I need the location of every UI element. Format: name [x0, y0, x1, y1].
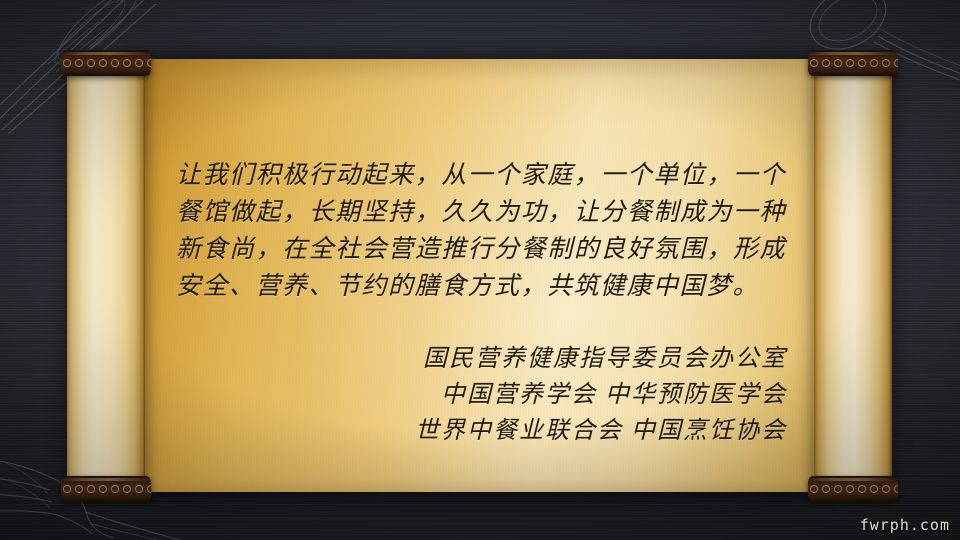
cap-ornament-pattern — [61, 57, 151, 69]
signature-line: 国民营养健康指导委员会办公室 — [227, 341, 787, 377]
scroll-roller-right — [814, 50, 892, 502]
scroll-body-text: 让我们积极行动起来，从一个家庭，一个单位，一个餐馆做起，长期坚持，久久为功，让分… — [176, 157, 786, 305]
cap-ornament-pattern — [808, 483, 898, 495]
site-watermark: fwrph.com — [860, 516, 950, 534]
cap-highlight — [61, 52, 151, 55]
scroll-roller-left — [67, 50, 145, 502]
cap-highlight — [808, 478, 898, 481]
cap-highlight — [61, 478, 151, 481]
scroll-signature-block: 国民营养健康指导委员会办公室 中国营养学会 中华预防医学会 世界中餐业联合会 中… — [227, 341, 787, 449]
roller-cap-top — [808, 50, 898, 76]
cap-ornament-pattern — [808, 57, 898, 69]
roller-cap-bottom — [808, 476, 898, 502]
roller-cap-top — [61, 50, 151, 76]
roller-body — [67, 68, 145, 484]
roller-cap-bottom — [61, 476, 151, 502]
poster-canvas: 让我们积极行动起来，从一个家庭，一个单位，一个餐馆做起，长期坚持，久久为功，让分… — [0, 0, 960, 540]
cap-highlight — [808, 52, 898, 55]
signature-line: 世界中餐业联合会 中国烹饪协会 — [227, 413, 787, 449]
scroll-text-layer: 让我们积极行动起来，从一个家庭，一个单位，一个餐馆做起，长期坚持，久久为功，让分… — [143, 59, 815, 492]
scroll-assembly: 让我们积极行动起来，从一个家庭，一个单位，一个餐馆做起，长期坚持，久久为功，让分… — [0, 0, 960, 540]
signature-line: 中国营养学会 中华预防医学会 — [227, 377, 787, 413]
cap-ornament-pattern — [61, 483, 151, 495]
roller-body — [814, 68, 892, 484]
